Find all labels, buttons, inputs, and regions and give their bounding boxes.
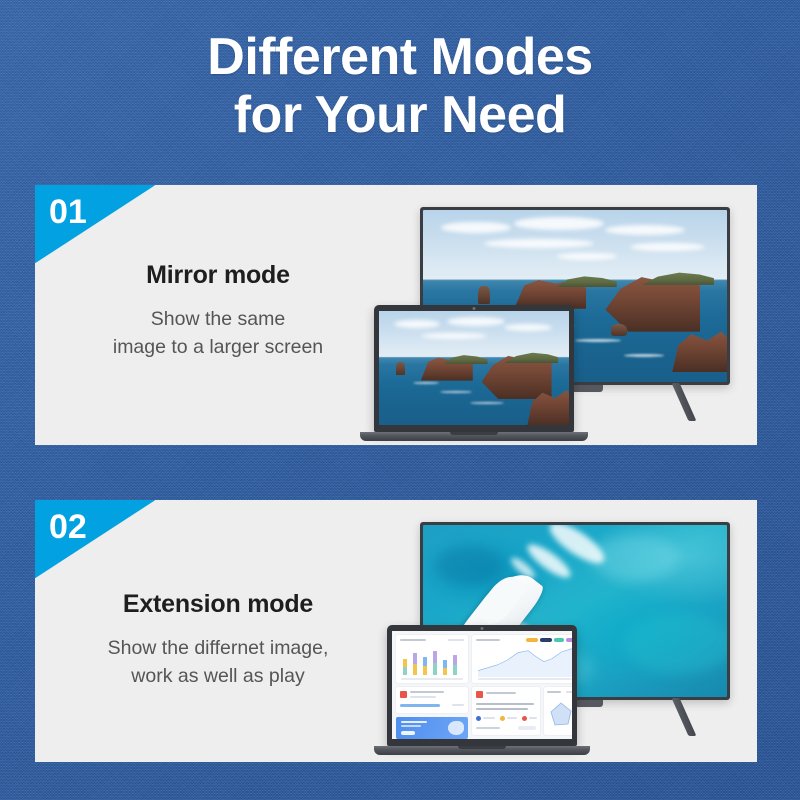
card-description: Show the differnet image, work as well a… xyxy=(53,635,383,690)
dashboard-poll-card xyxy=(472,687,540,735)
card-title: Mirror mode xyxy=(53,261,383,290)
laptop-device-extension xyxy=(387,625,577,755)
dashboard-radar-chart-panel xyxy=(544,687,572,735)
radar-polygon xyxy=(544,697,572,733)
card-description: Show the same image to a larger screen xyxy=(53,306,383,361)
mode-card-extension[interactable]: 02 Extension mode Show the differnet ima… xyxy=(35,500,757,762)
card-description-line-2: work as well as play xyxy=(53,663,383,691)
tv-stand-leg xyxy=(672,698,697,736)
page-title-line-2: for Your Need xyxy=(0,86,800,144)
card-title: Extension mode xyxy=(53,590,383,619)
dashboard-line-chart-panel xyxy=(472,635,572,683)
laptop-screen-image-coast xyxy=(379,311,569,425)
laptop-base xyxy=(374,746,591,755)
laptop-lid xyxy=(387,625,577,746)
dashboard-promo-banner xyxy=(396,717,468,739)
page-title-line-1: Different Modes xyxy=(0,28,800,86)
webcam-icon xyxy=(481,627,484,630)
laptop-screen xyxy=(392,631,572,739)
card-description-line-1: Show the same xyxy=(53,306,383,334)
laptop-base xyxy=(360,432,588,441)
card-description-line-1: Show the differnet image, xyxy=(53,635,383,663)
card-number-label: 02 xyxy=(49,508,87,547)
mode-card-mirror[interactable]: 01 Mirror mode Show the same image to a … xyxy=(35,185,757,445)
laptop-screen xyxy=(379,311,569,425)
dashboard-stat-card xyxy=(396,687,468,713)
dashboard-bar-chart-panel xyxy=(396,635,468,683)
card-number-badge: 02 xyxy=(35,500,155,578)
laptop-trackpad-notch xyxy=(458,746,506,749)
laptop-trackpad-notch xyxy=(450,432,498,435)
card-number-label: 01 xyxy=(49,193,87,232)
card-description-line-2: image to a larger screen xyxy=(53,334,383,362)
webcam-icon xyxy=(473,307,476,310)
card-text-block: Extension mode Show the differnet image,… xyxy=(53,590,383,690)
laptop-lid xyxy=(374,305,574,432)
laptop-screen-dashboard xyxy=(392,631,572,739)
page-title: Different Modes for Your Need xyxy=(0,28,800,144)
poster-root: Different Modes for Your Need 01 Mirror … xyxy=(0,0,800,800)
card-text-block: Mirror mode Show the same image to a lar… xyxy=(53,261,383,361)
card-number-badge: 01 xyxy=(35,185,155,263)
tv-stand-leg xyxy=(672,383,697,421)
dashboard-trend-line xyxy=(472,635,572,683)
laptop-device-mirror xyxy=(374,305,574,441)
